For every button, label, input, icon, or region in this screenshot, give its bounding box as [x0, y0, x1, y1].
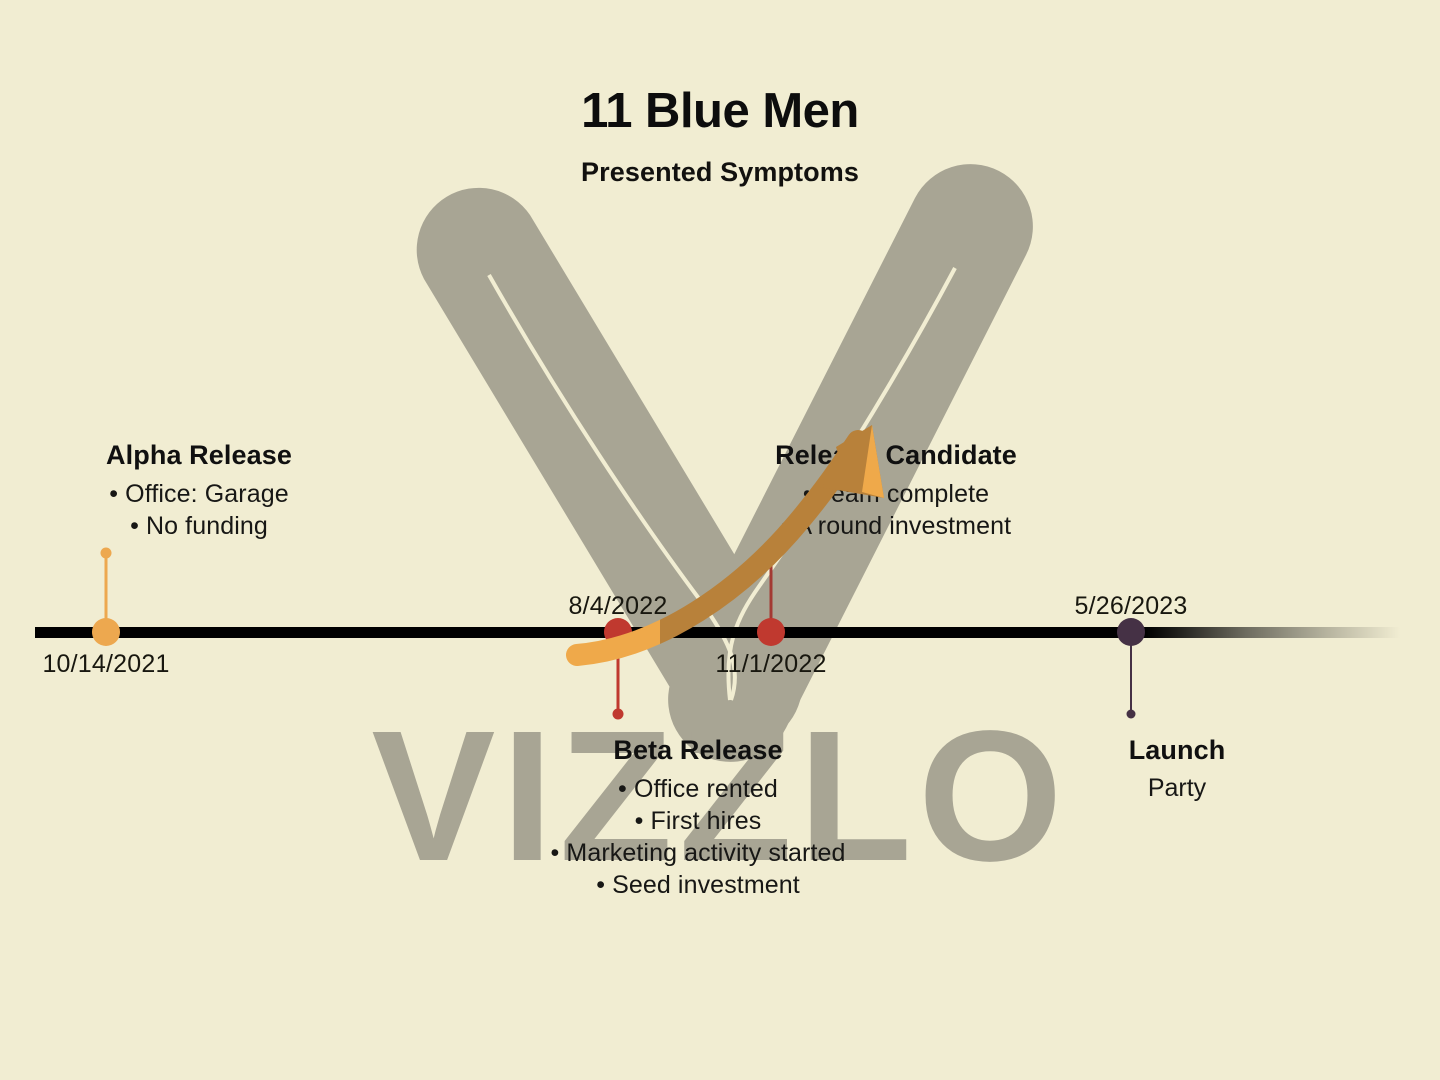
header-block: 11 Blue Men Presented Symptoms: [0, 86, 1440, 188]
milestone-stem-beta-release: [617, 632, 620, 714]
timeline-canvas: VIZZLO 11 Blue Men Presented Symptoms Al…: [0, 0, 1440, 1080]
milestone-title: Beta Release: [551, 735, 846, 766]
milestone-bullets: • Office rented • First hires • Marketin…: [551, 773, 846, 901]
list-item: • Marketing activity started: [551, 837, 846, 869]
milestone-block-release-candidate[interactable]: Release Candidate • Team complete • A ro…: [775, 440, 1017, 542]
list-item: • No funding: [106, 510, 292, 542]
milestone-bullets: • Office: Garage • No funding: [106, 478, 292, 542]
timeline-axis: [35, 627, 1400, 638]
milestone-marker-release-candidate[interactable]: [757, 618, 785, 646]
milestone-date-alpha-release: 10/14/2021: [42, 650, 169, 679]
milestone-marker-alpha-release[interactable]: [92, 618, 120, 646]
list-item: • A round investment: [775, 510, 1017, 542]
milestone-date-beta-release: 8/4/2022: [569, 592, 668, 621]
milestone-stem-tip-beta-release: [613, 709, 624, 720]
milestone-block-alpha-release[interactable]: Alpha Release • Office: Garage • No fund…: [106, 440, 292, 542]
list-item: • Office rented: [551, 773, 846, 805]
milestone-date-launch: 5/26/2023: [1074, 592, 1187, 621]
list-item: • Seed investment: [551, 869, 846, 901]
milestone-block-launch[interactable]: Launch Party: [1129, 735, 1226, 803]
milestone-stem-launch: [1130, 632, 1132, 714]
list-item: • Team complete: [775, 478, 1017, 510]
milestone-title: Alpha Release: [106, 440, 292, 471]
milestone-bullets: • Team complete • A round investment: [775, 478, 1017, 542]
milestone-title: Release Candidate: [775, 440, 1017, 471]
page-subtitle: Presented Symptoms: [0, 157, 1440, 188]
milestone-date-release-candidate: 11/1/2022: [715, 650, 826, 679]
milestone-block-beta-release[interactable]: Beta Release • Office rented • First hir…: [551, 735, 846, 901]
milestone-plain-text: Party: [1129, 774, 1226, 803]
list-item: • First hires: [551, 805, 846, 837]
list-item: • Office: Garage: [106, 478, 292, 510]
page-title: 11 Blue Men: [0, 86, 1440, 137]
milestone-stem-tip-launch: [1127, 710, 1136, 719]
milestone-title: Launch: [1129, 735, 1226, 766]
